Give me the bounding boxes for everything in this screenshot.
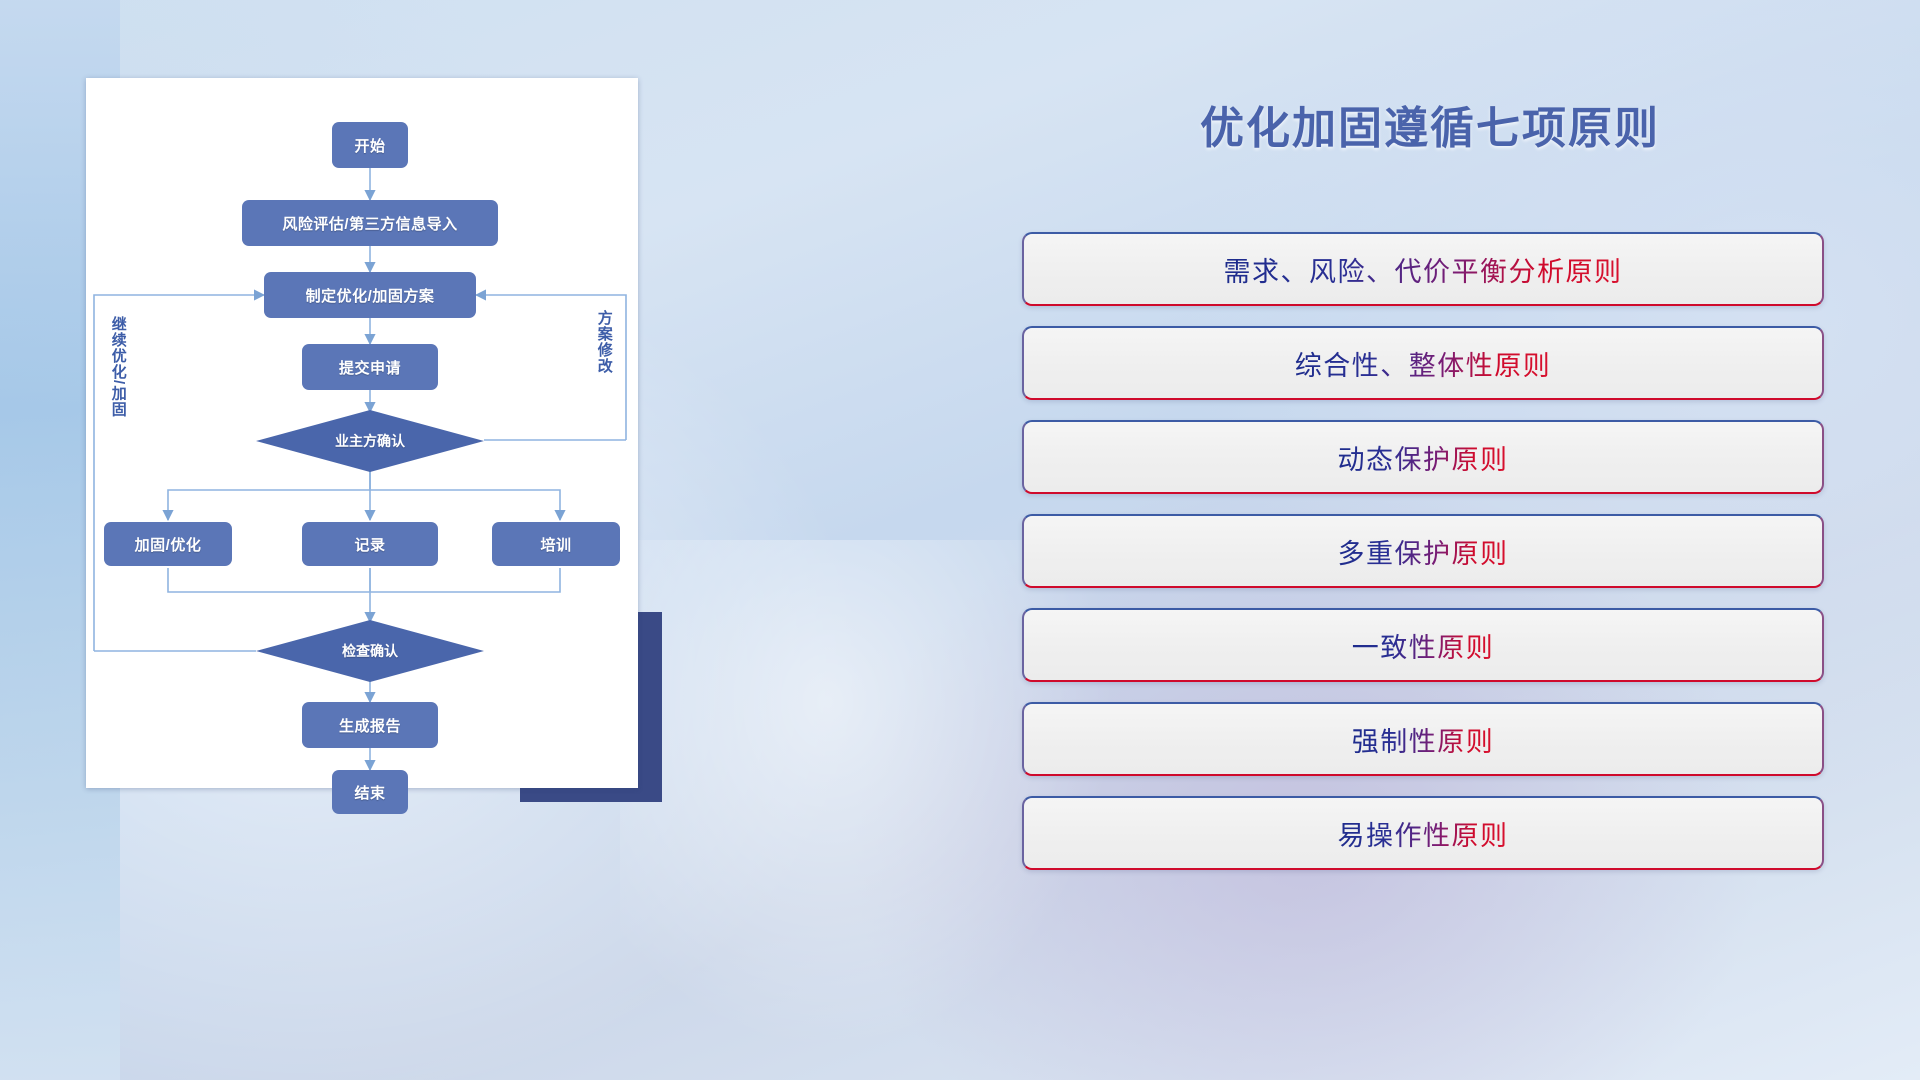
principle-label: 强制性原则 — [1352, 720, 1495, 759]
flow-node-risk-assessment-label: 风险评估/第三方信息导入 — [282, 213, 457, 234]
flow-node-end-label: 结束 — [354, 782, 385, 803]
principle-label: 一致性原则 — [1352, 626, 1495, 665]
flow-edge-label-continue-optimize: 继续优化/加固 — [110, 316, 126, 446]
flow-node-end[interactable]: 结束 — [332, 770, 408, 814]
principle-label: 多重保护原则 — [1338, 532, 1509, 571]
flow-node-reinforce-optimize-label: 加固/优化 — [135, 534, 202, 555]
principle-label: 易操作性原则 — [1338, 814, 1509, 853]
principle-card-4[interactable]: 多重保护原则 — [1022, 514, 1824, 588]
flowchart-card: 开始 风险评估/第三方信息导入 制定优化/加固方案 提交申请 业主方确认 加固/… — [86, 78, 638, 788]
principle-card-7[interactable]: 易操作性原则 — [1022, 796, 1824, 870]
flow-node-record[interactable]: 记录 — [302, 522, 438, 566]
flow-decision-inspection-confirm[interactable]: 检查确认 — [256, 620, 484, 682]
flow-node-record-label: 记录 — [354, 534, 385, 555]
flow-node-submit-application-label: 提交申请 — [339, 357, 401, 378]
flow-node-plan[interactable]: 制定优化/加固方案 — [264, 272, 476, 318]
flow-node-generate-report-label: 生成报告 — [339, 715, 401, 736]
flow-decision-owner-confirm[interactable]: 业主方确认 — [256, 410, 484, 472]
flow-node-start[interactable]: 开始 — [332, 122, 408, 168]
flow-node-submit-application[interactable]: 提交申请 — [302, 344, 438, 390]
principle-label: 动态保护原则 — [1338, 438, 1509, 477]
page-title: 优化加固遵循七项原则 — [1020, 92, 1840, 156]
flow-node-training-label: 培训 — [540, 534, 571, 555]
principle-card-5[interactable]: 一致性原则 — [1022, 608, 1824, 682]
principle-label: 综合性、整体性原则 — [1295, 344, 1552, 383]
flow-node-plan-label: 制定优化/加固方案 — [306, 285, 435, 306]
principle-card-6[interactable]: 强制性原则 — [1022, 702, 1824, 776]
flow-node-training[interactable]: 培训 — [492, 522, 620, 566]
principle-card-3[interactable]: 动态保护原则 — [1022, 420, 1824, 494]
flow-node-generate-report[interactable]: 生成报告 — [302, 702, 438, 748]
flow-node-start-label: 开始 — [354, 135, 385, 156]
principle-list: 需求、风险、代价平衡分析原则 综合性、整体性原则 动态保护原则 多重保护原则 一… — [1022, 232, 1824, 890]
flow-edge-label-plan-revision: 方案修改 — [596, 310, 612, 410]
flow-node-reinforce-optimize[interactable]: 加固/优化 — [104, 522, 232, 566]
flow-decision-owner-confirm-label: 业主方确认 — [335, 431, 405, 451]
flow-decision-inspection-confirm-label: 检查确认 — [342, 641, 398, 661]
principle-card-2[interactable]: 综合性、整体性原则 — [1022, 326, 1824, 400]
flow-node-risk-assessment[interactable]: 风险评估/第三方信息导入 — [242, 200, 498, 246]
principle-label: 需求、风险、代价平衡分析原则 — [1224, 250, 1623, 289]
principle-card-1[interactable]: 需求、风险、代价平衡分析原则 — [1022, 232, 1824, 306]
